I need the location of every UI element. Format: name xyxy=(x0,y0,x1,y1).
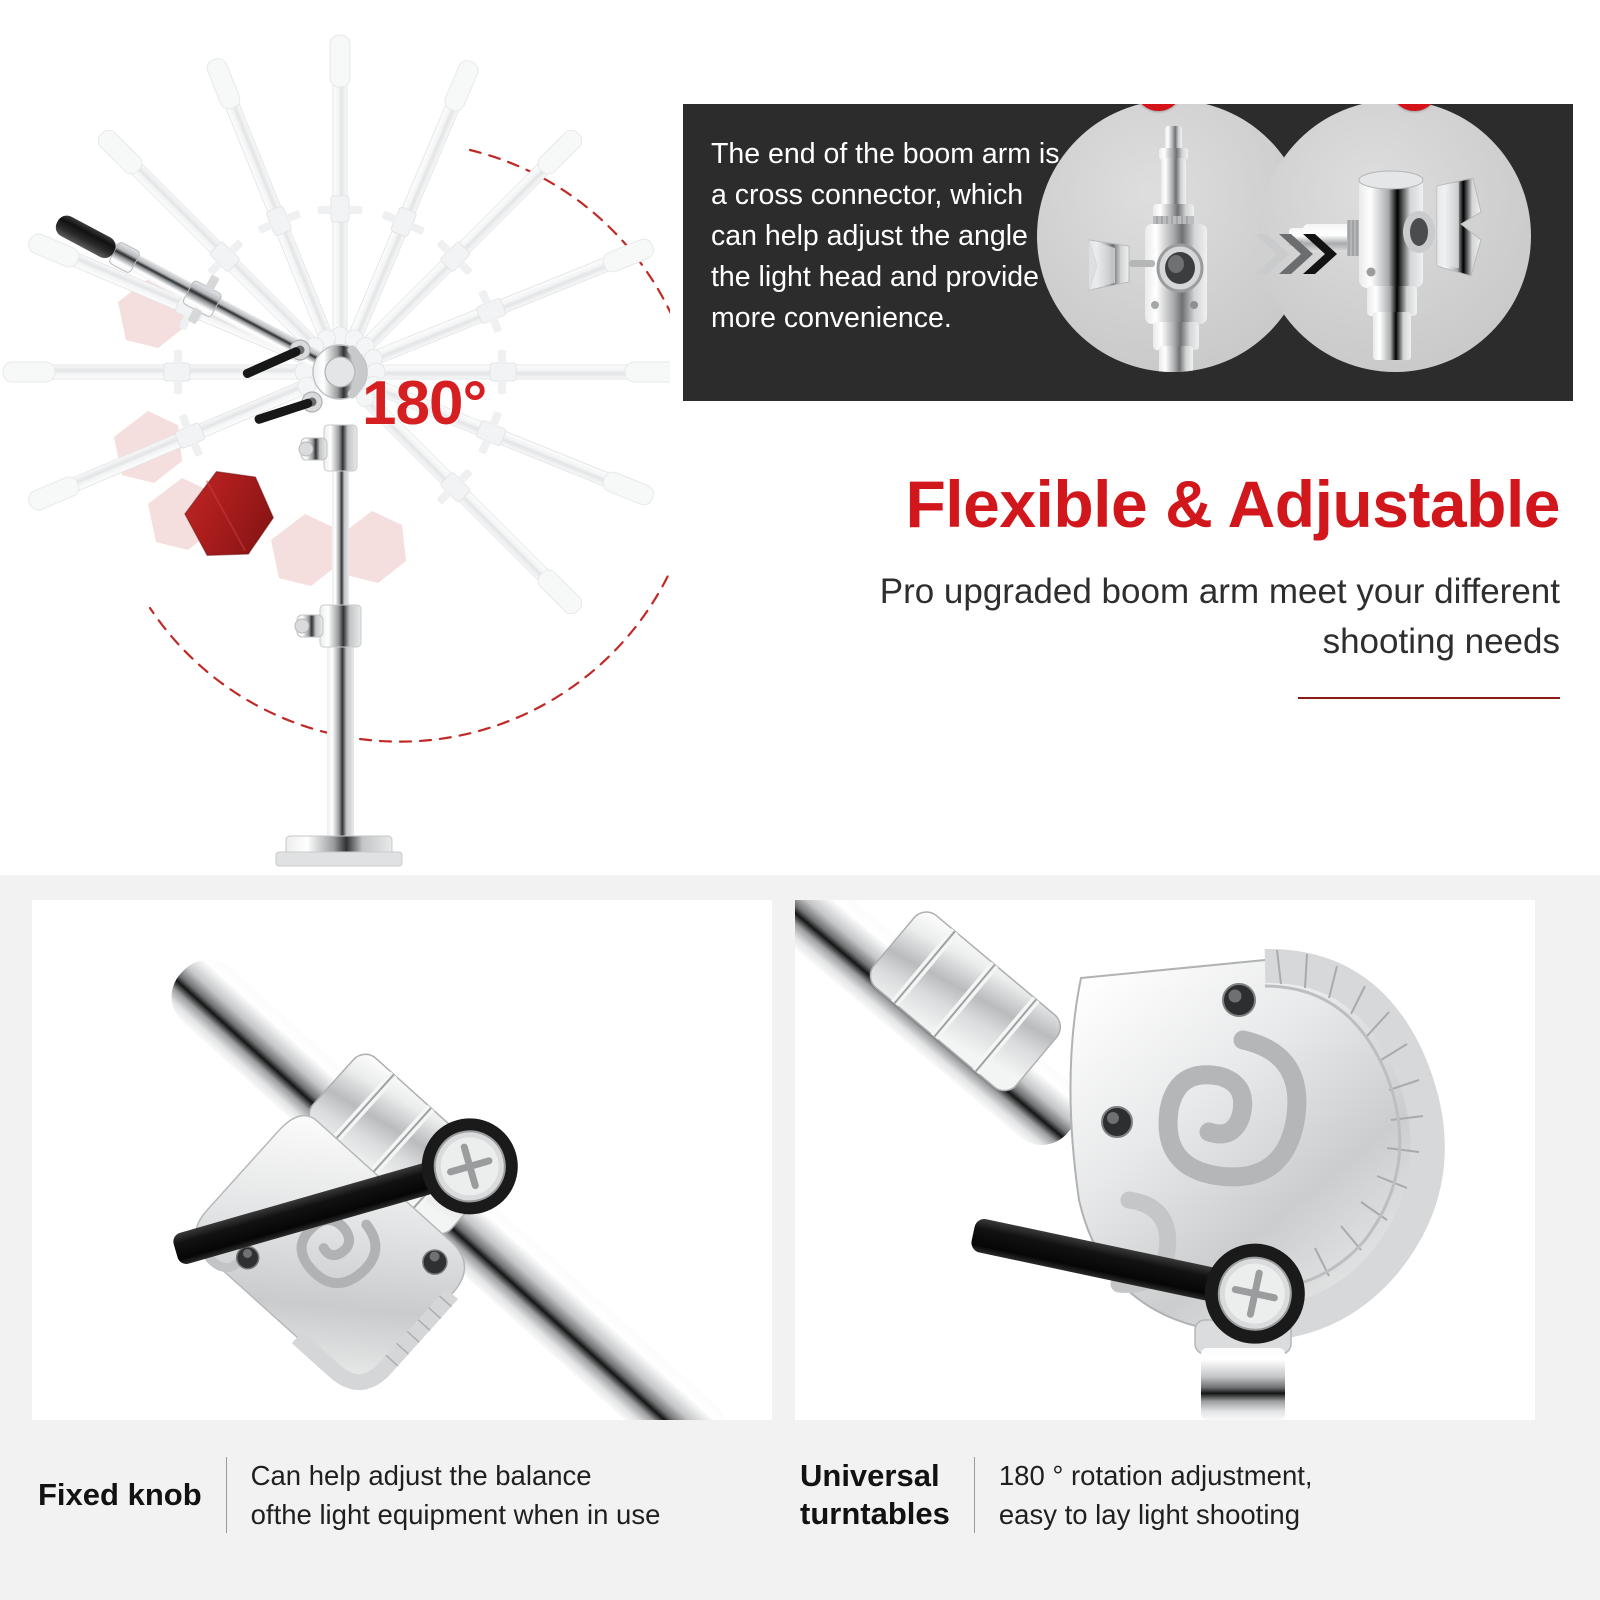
rotation-diagram: 180° xyxy=(0,0,670,875)
feature-description-universal-turntables: 180 ° rotation adjustment, easy to lay l… xyxy=(999,1456,1313,1534)
fixed-knob-clamp-photo xyxy=(32,900,772,1420)
infographic-page: 180° The end of the boom arm is a cross … xyxy=(0,0,1600,1600)
page-title: Flexible & Adjustable xyxy=(760,470,1560,539)
top-section: 180° The end of the boom arm is a cross … xyxy=(0,0,1600,875)
feature-caption-fixed-knob: Fixed knob Can help adjust the balance o… xyxy=(38,1440,778,1550)
feature-title-universal-turntables: Universal turntables xyxy=(800,1457,974,1534)
caption-divider xyxy=(974,1457,975,1533)
cross-connector-info-panel: The end of the boom arm is a cross conne… xyxy=(683,104,1573,401)
feature-caption-universal-turntables: Universal turntables 180 ° rotation adju… xyxy=(800,1440,1540,1550)
features-section: Fixed knob Can help adjust the balance o… xyxy=(0,875,1600,1600)
page-subtitle: Pro upgraded boom arm meet your differen… xyxy=(760,567,1560,666)
light-stand-icon xyxy=(276,425,402,866)
feature-title-fixed-knob: Fixed knob xyxy=(38,1476,226,1514)
feature-description-fixed-knob: Can help adjust the balance ofthe light … xyxy=(251,1456,661,1534)
rotation-angle-label: 180° xyxy=(362,368,486,439)
chevron-right-icon xyxy=(1253,228,1341,285)
universal-turntable-photo xyxy=(795,900,1535,1420)
caption-divider xyxy=(226,1457,227,1533)
connector-photo-group: 1 2 xyxy=(1013,104,1573,401)
counterweight-hexagon-icon xyxy=(176,460,281,568)
accent-rule xyxy=(1298,697,1560,699)
headline-block: Flexible & Adjustable Pro upgraded boom … xyxy=(760,470,1560,699)
rotation-diagram-svg xyxy=(0,0,670,875)
